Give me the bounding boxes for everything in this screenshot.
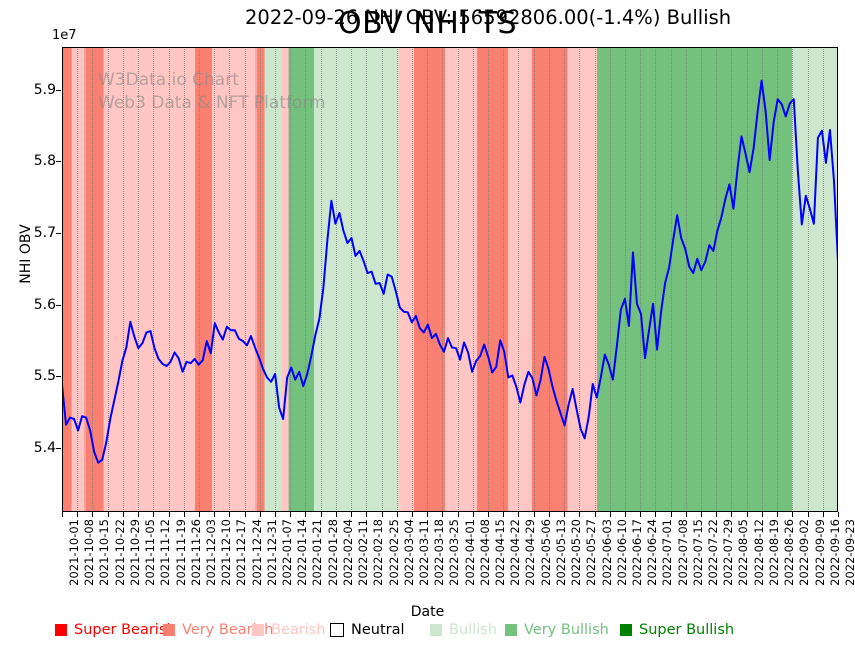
x-tick-label: 2022-01-14	[295, 519, 309, 586]
x-tick-label: 2022-08-12	[752, 519, 766, 586]
legend-item-neutral[interactable]: Neutral	[330, 619, 405, 641]
x-tick-label: 2022-07-15	[691, 519, 705, 586]
x-tick-label: 2022-06-24	[645, 519, 659, 586]
x-axis-label: Date	[0, 604, 855, 620]
chart-root: OBV NHI TS 1e7 W3Data.io ChartWeb3 Data …	[0, 0, 855, 646]
x-tick-label: 2021-11-26	[189, 519, 203, 586]
x-tick-mark	[229, 512, 230, 517]
x-tick-mark	[488, 512, 489, 517]
x-tick-mark	[366, 512, 367, 517]
x-tick-label: 2022-07-08	[676, 519, 690, 586]
x-tick-mark	[655, 512, 656, 517]
x-tick-label: 2022-01-28	[326, 519, 340, 586]
x-tick-mark	[184, 512, 185, 517]
x-tick-label: 2021-12-31	[265, 519, 279, 586]
x-tick-mark	[290, 512, 291, 517]
x-tick-mark	[518, 512, 519, 517]
x-tick-label: 2022-08-26	[782, 519, 796, 586]
x-tick-label: 2022-05-27	[584, 519, 598, 586]
x-tick-mark	[305, 512, 306, 517]
x-tick-label: 2022-04-08	[478, 519, 492, 586]
x-tick-mark	[77, 512, 78, 517]
x-tick-label: 2021-11-05	[143, 519, 157, 586]
x-tick-mark	[534, 512, 535, 517]
x-tick-mark	[731, 512, 732, 517]
x-tick-mark	[777, 512, 778, 517]
x-tick-label: 2022-04-22	[508, 519, 522, 586]
legend-label: Neutral	[351, 622, 405, 638]
x-tick-label: 2022-02-04	[341, 519, 355, 586]
legend-swatch-icon	[505, 624, 517, 636]
x-tick-mark	[503, 512, 504, 517]
x-tick-mark	[564, 512, 565, 517]
x-tick-mark	[686, 512, 687, 517]
x-tick-label: 2022-02-25	[387, 519, 401, 586]
x-tick-mark	[595, 512, 596, 517]
x-tick-label: 2021-10-15	[97, 519, 111, 586]
legend-label: Super Bearish	[74, 622, 176, 638]
legend-item-super-bearish[interactable]: Super Bearish	[55, 619, 176, 641]
x-tick-label: 2022-05-13	[554, 519, 568, 586]
x-tick-mark	[838, 512, 839, 517]
x-tick-label: 2022-07-22	[706, 519, 720, 586]
legend: Super BearishVery BearishBearishNeutralB…	[0, 619, 855, 643]
x-tick-mark	[62, 512, 63, 517]
x-tick-mark	[108, 512, 109, 517]
x-tick-mark	[442, 512, 443, 517]
x-tick-mark	[808, 512, 809, 517]
legend-swatch-icon	[252, 624, 264, 636]
x-tick-mark	[260, 512, 261, 517]
x-tick-label: 2021-11-19	[174, 519, 188, 586]
x-tick-mark	[625, 512, 626, 517]
x-tick-mark	[321, 512, 322, 517]
x-tick-label: 2021-10-29	[128, 519, 142, 586]
x-tick-label: 2022-08-19	[767, 519, 781, 586]
x-tick-mark	[153, 512, 154, 517]
x-tick-label: 2022-01-21	[310, 519, 324, 586]
x-tick-mark	[275, 512, 276, 517]
x-tick-label: 2022-03-18	[432, 519, 446, 586]
x-tick-mark	[823, 512, 824, 517]
legend-label: Bullish	[449, 622, 497, 638]
legend-swatch-icon	[330, 623, 344, 637]
legend-item-very-bullish[interactable]: Very Bullish	[505, 619, 609, 641]
x-tick-label: 2022-06-03	[600, 519, 614, 586]
x-tick-mark	[747, 512, 748, 517]
x-tick-label: 2022-09-23	[843, 519, 855, 586]
x-tick-label: 2021-10-01	[67, 519, 81, 586]
x-tick-mark	[92, 512, 93, 517]
x-tick-label: 2022-09-02	[797, 519, 811, 586]
x-tick-mark	[138, 512, 139, 517]
legend-item-bullish[interactable]: Bullish	[430, 619, 497, 641]
x-tick-label: 2021-12-24	[250, 519, 264, 586]
x-tick-label: 2021-10-22	[113, 519, 127, 586]
x-tick-mark	[214, 512, 215, 517]
x-tick-mark	[336, 512, 337, 517]
x-tick-label: 2022-07-29	[721, 519, 735, 586]
x-tick-label: 2022-03-25	[447, 519, 461, 586]
legend-swatch-icon	[163, 624, 175, 636]
x-tick-label: 2022-04-15	[493, 519, 507, 586]
x-tick-label: 2021-12-17	[234, 519, 248, 586]
x-axis-ticks: 2021-10-012021-10-082021-10-152021-10-22…	[0, 0, 855, 646]
x-tick-label: 2022-04-01	[463, 519, 477, 586]
x-tick-label: 2021-10-08	[82, 519, 96, 586]
x-tick-mark	[701, 512, 702, 517]
x-tick-mark	[458, 512, 459, 517]
x-tick-label: 2022-05-06	[539, 519, 553, 586]
x-tick-label: 2022-06-17	[630, 519, 644, 586]
legend-label: Bearish	[271, 622, 326, 638]
x-tick-label: 2021-11-12	[158, 519, 172, 586]
legend-swatch-icon	[620, 624, 632, 636]
x-tick-mark	[382, 512, 383, 517]
x-tick-label: 2022-09-16	[828, 519, 842, 586]
legend-item-bearish[interactable]: Bearish	[252, 619, 326, 641]
x-tick-label: 2022-04-29	[523, 519, 537, 586]
legend-item-super-bullish[interactable]: Super Bullish	[620, 619, 734, 641]
x-tick-mark	[427, 512, 428, 517]
x-tick-mark	[397, 512, 398, 517]
x-tick-label: 2022-02-11	[356, 519, 370, 586]
x-tick-label: 2022-07-01	[660, 519, 674, 586]
x-tick-label: 2021-12-03	[204, 519, 218, 586]
x-tick-mark	[473, 512, 474, 517]
x-tick-mark	[792, 512, 793, 517]
x-tick-mark	[245, 512, 246, 517]
x-tick-mark	[549, 512, 550, 517]
legend-swatch-icon	[55, 624, 67, 636]
x-tick-mark	[123, 512, 124, 517]
x-tick-label: 2022-09-09	[813, 519, 827, 586]
x-tick-mark	[640, 512, 641, 517]
x-tick-label: 2022-02-18	[371, 519, 385, 586]
x-tick-label: 2022-08-05	[736, 519, 750, 586]
x-tick-mark	[610, 512, 611, 517]
x-tick-label: 2022-05-20	[569, 519, 583, 586]
x-tick-mark	[671, 512, 672, 517]
legend-label: Super Bullish	[639, 622, 734, 638]
x-tick-mark	[579, 512, 580, 517]
legend-swatch-icon	[430, 624, 442, 636]
x-tick-mark	[199, 512, 200, 517]
x-tick-mark	[716, 512, 717, 517]
x-tick-label: 2022-06-10	[615, 519, 629, 586]
x-tick-mark	[762, 512, 763, 517]
legend-label: Very Bullish	[524, 622, 609, 638]
x-tick-label: 2022-01-07	[280, 519, 294, 586]
x-tick-mark	[412, 512, 413, 517]
x-tick-label: 2021-12-10	[219, 519, 233, 586]
x-tick-mark	[351, 512, 352, 517]
x-tick-label: 2022-03-04	[402, 519, 416, 586]
x-tick-mark	[169, 512, 170, 517]
x-tick-label: 2022-03-11	[417, 519, 431, 586]
